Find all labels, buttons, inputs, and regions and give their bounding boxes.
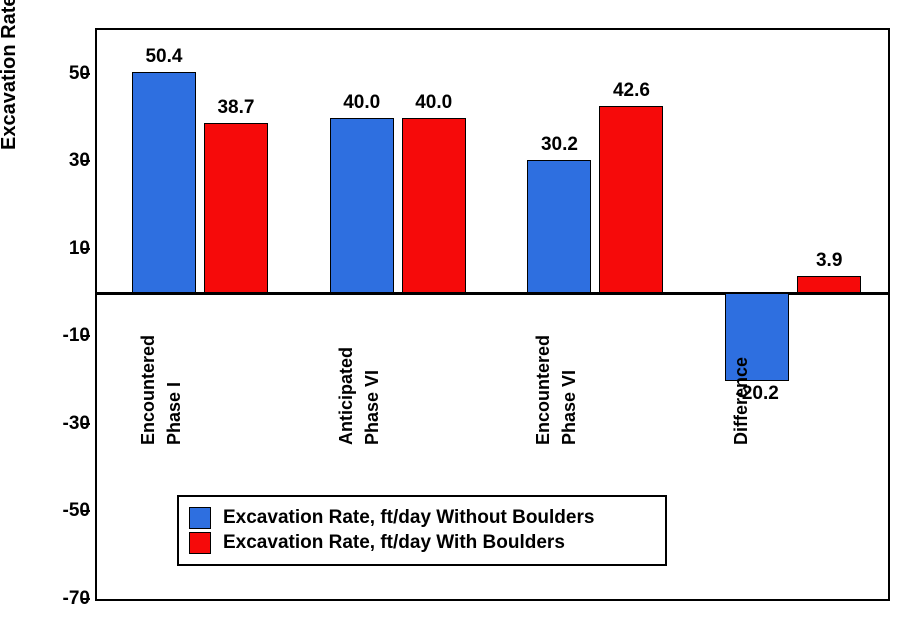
category-label: Encountered bbox=[138, 335, 159, 445]
category-label: Encountered bbox=[533, 335, 554, 445]
y-axis-label-text: Excavation Rate, ft/day bbox=[0, 0, 21, 150]
y-tick-mark bbox=[81, 73, 90, 75]
bar bbox=[204, 123, 268, 292]
y-tick-mark bbox=[81, 423, 90, 425]
excavation-rate-bar-chart: Excavation Rate, ft/day 503010-10-30-50-… bbox=[0, 0, 911, 623]
bar-value-label: 42.6 bbox=[584, 80, 678, 102]
bar-value-label: 3.9 bbox=[782, 250, 876, 272]
bar-value-label: 38.7 bbox=[189, 97, 283, 119]
legend-item: Excavation Rate, ft/day With Boulders bbox=[189, 532, 655, 554]
bar bbox=[527, 160, 591, 292]
legend-swatch-with-boulders bbox=[189, 532, 211, 554]
legend-item: Excavation Rate, ft/day Without Boulders bbox=[189, 507, 655, 529]
bar-value-label: 30.2 bbox=[512, 134, 606, 156]
category-label: Phase VI bbox=[559, 370, 580, 445]
bar bbox=[402, 118, 466, 293]
plot-area: 50.440.030.2-20.238.740.042.63.9Encounte… bbox=[95, 28, 890, 601]
legend-swatch-without-boulders bbox=[189, 507, 211, 529]
category-label: Phase VI bbox=[362, 370, 383, 445]
bar bbox=[797, 276, 861, 293]
bar-value-label: 40.0 bbox=[387, 92, 481, 114]
y-tick-mark bbox=[81, 248, 90, 250]
bar-value-label: 50.4 bbox=[117, 46, 211, 68]
y-tick-labels: 503010-10-30-50-70 bbox=[20, 28, 90, 601]
bar bbox=[599, 106, 663, 292]
y-tick-mark bbox=[81, 598, 90, 600]
y-tick-mark bbox=[81, 335, 90, 337]
y-axis-label: Excavation Rate, ft/day bbox=[0, 0, 21, 150]
category-label: Phase I bbox=[164, 382, 185, 445]
y-tick-mark bbox=[81, 510, 90, 512]
category-label: Difference bbox=[731, 357, 752, 445]
bar bbox=[132, 72, 196, 293]
legend-label-with-boulders: Excavation Rate, ft/day With Boulders bbox=[223, 532, 565, 554]
chart-legend: Excavation Rate, ft/day Without Boulders… bbox=[177, 495, 667, 566]
category-label: Anticipated bbox=[336, 347, 357, 445]
bar bbox=[330, 118, 394, 293]
legend-label-without-boulders: Excavation Rate, ft/day Without Boulders bbox=[223, 507, 594, 529]
bar-value-label: -20.2 bbox=[710, 383, 804, 405]
y-tick-mark bbox=[81, 160, 90, 162]
